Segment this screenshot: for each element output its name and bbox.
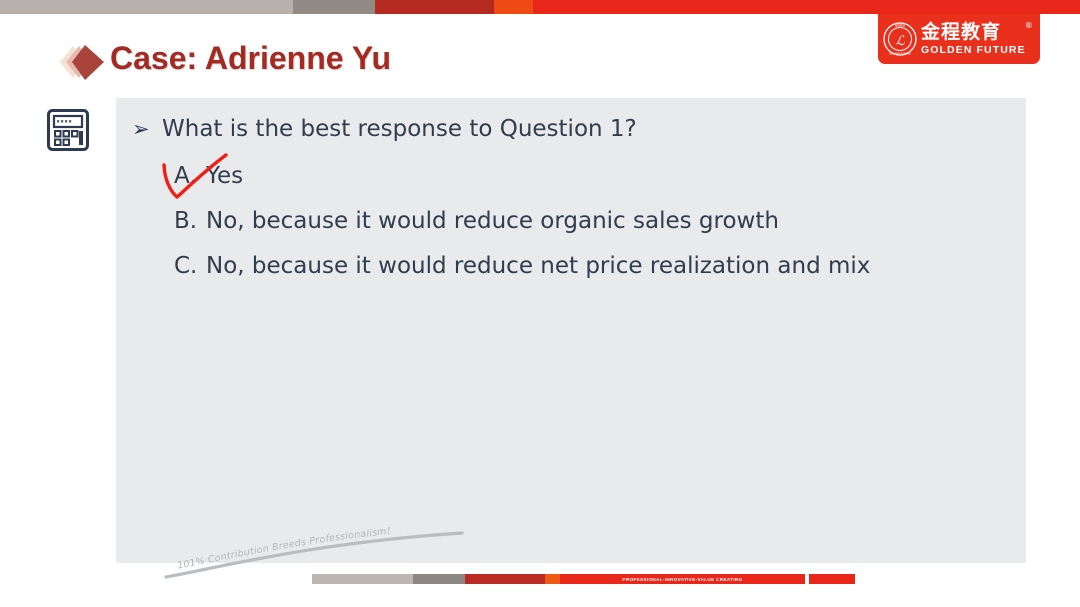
svg-text:金程教育: 金程教育 [895, 24, 906, 28]
top-bar-segment-5 [533, 0, 1080, 14]
footer-swoosh-text: 101% Contribution Breeds Professionalism… [176, 526, 391, 572]
option-a[interactable]: A. Yes [174, 163, 243, 189]
bottom-bar-segment-5: PROFESSIONAL-INNOVATIVE-VALUE CREATING [560, 574, 805, 584]
logo-wordmark: 金程教育® GOLDEN FUTURE [921, 23, 1026, 56]
option-c[interactable]: C. No, because it would reduce net price… [174, 253, 870, 279]
top-decorative-bar [0, 0, 1080, 14]
logo-name-en: GOLDEN FUTURE [921, 45, 1026, 56]
option-a-letter: A. [174, 163, 206, 189]
question-row: ➢ What is the best response to Question … [132, 116, 637, 142]
slide-header: Case: Adrienne Yu ℒ 金程教育 GOLDEN FUTURE 金… [0, 14, 1080, 84]
bottom-bar-segment-7 [809, 574, 855, 584]
bottom-decorative-bar: PROFESSIONAL-INNOVATIVE-VALUE CREATING [312, 574, 855, 584]
top-bar-segment-1 [0, 0, 293, 14]
svg-text:ℒ: ℒ [895, 34, 905, 49]
svg-text:GOLDEN FUTURE: GOLDEN FUTURE [889, 51, 912, 55]
option-c-text: No, because it would reduce net price re… [206, 253, 870, 279]
bottom-bar-segment-3 [465, 574, 545, 584]
top-bar-segment-2 [293, 0, 375, 14]
bottom-bar-segment-1 [312, 574, 413, 584]
circular-seal-icon: ℒ 金程教育 GOLDEN FUTURE [883, 22, 917, 56]
brand-logo[interactable]: ℒ 金程教育 GOLDEN FUTURE 金程教育® GOLDEN FUTURE [878, 14, 1040, 64]
option-c-letter: C. [174, 253, 206, 279]
question-text: What is the best response to Question 1? [162, 116, 637, 142]
bottom-bar-segment-2 [413, 574, 465, 584]
option-b-text: No, because it would reduce organic sale… [206, 208, 779, 234]
logo-name-cn: 金程教育® [921, 23, 1026, 42]
option-a-text: Yes [206, 163, 243, 189]
svg-text:101% Contribution Breeds Profe: 101% Contribution Breeds Professionalism… [176, 526, 391, 572]
arrow-bullet-icon: ➢ [132, 119, 162, 140]
diamond-bullet-icon [46, 42, 104, 82]
page-title: Case: Adrienne Yu [110, 40, 391, 77]
top-bar-segment-3 [375, 0, 494, 14]
logo-name-cn-text: 金程教育 [921, 21, 1001, 43]
footer-tagline: PROFESSIONAL-INNOVATIVE-VALUE CREATING [560, 574, 805, 584]
slide-content-panel: ➢ What is the best response to Question … [116, 98, 1026, 563]
top-bar-segment-4 [494, 0, 533, 14]
option-b[interactable]: B. No, because it would reduce organic s… [174, 208, 779, 234]
registered-mark: ® [1025, 22, 1034, 30]
option-b-letter: B. [174, 208, 206, 234]
bottom-bar-segment-4 [545, 574, 560, 584]
calculator-icon [46, 109, 90, 151]
